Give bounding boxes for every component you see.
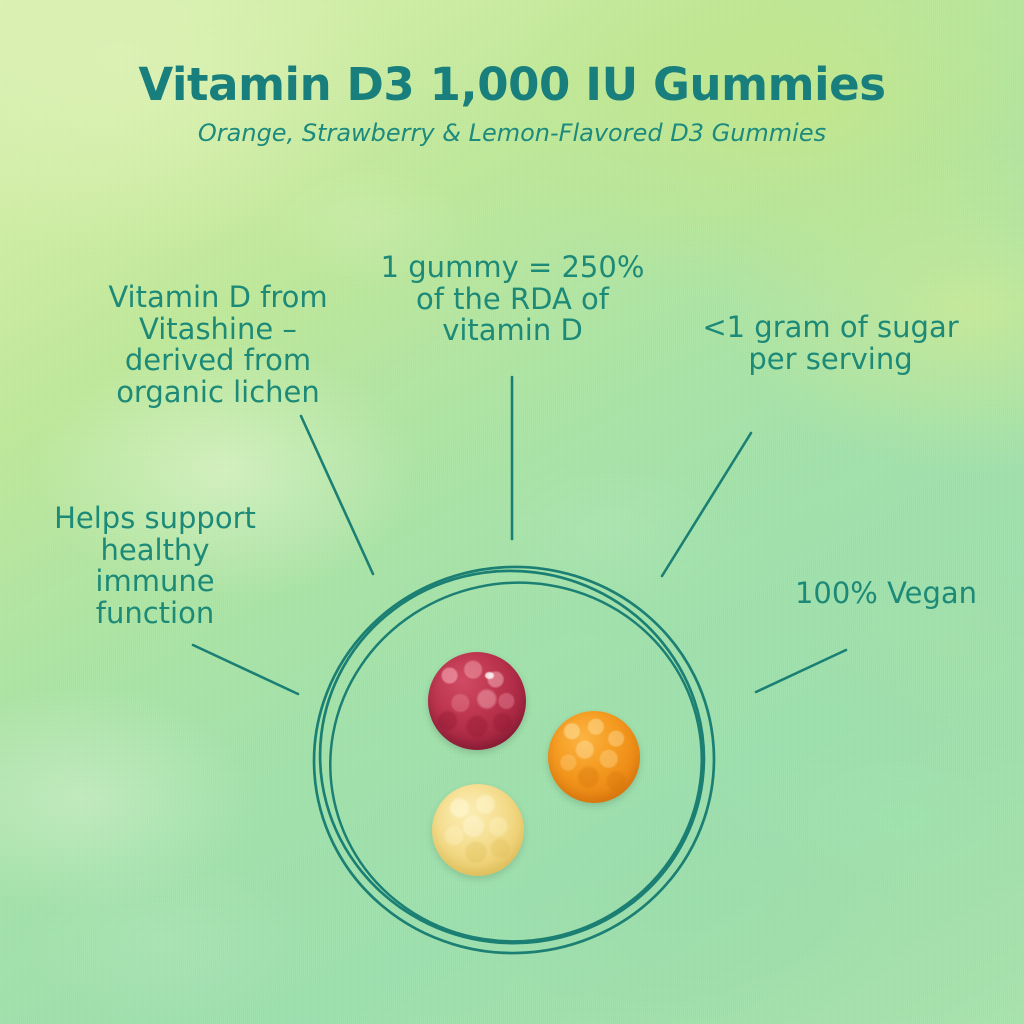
strawberry-gummy <box>428 652 526 750</box>
callout-rda: 1 gummy = 250% of the RDA of vitamin D <box>360 252 665 347</box>
orange-gummy-texture <box>548 711 640 803</box>
leader-line-vegan <box>756 650 846 692</box>
leader-line-immune <box>193 645 298 694</box>
page-subtitle: Orange, Strawberry & Lemon-Flavored D3 G… <box>0 119 1024 147</box>
callout-lichen: Vitamin D from Vitashine – derived from … <box>68 282 368 408</box>
ring-inner <box>297 548 735 976</box>
leader-line-lichen <box>301 416 373 574</box>
lemon-gummy <box>432 784 524 876</box>
orange-gummy <box>548 711 640 803</box>
leader-line-sugar <box>662 433 751 576</box>
ring-outer <box>301 554 727 967</box>
page-title: Vitamin D3 1,000 IU Gummies <box>0 58 1024 111</box>
strawberry-gummy-texture <box>428 652 526 750</box>
callout-immune: Helps support healthy immune function <box>26 503 284 629</box>
callout-vegan: 100% Vegan <box>770 578 1002 610</box>
ring-middle <box>299 549 725 965</box>
callout-sugar: <1 gram of sugar per serving <box>678 312 983 375</box>
lemon-gummy-texture <box>432 784 524 876</box>
infographic-canvas: Vitamin D3 1,000 IU Gummies Orange, Stra… <box>0 0 1024 1024</box>
